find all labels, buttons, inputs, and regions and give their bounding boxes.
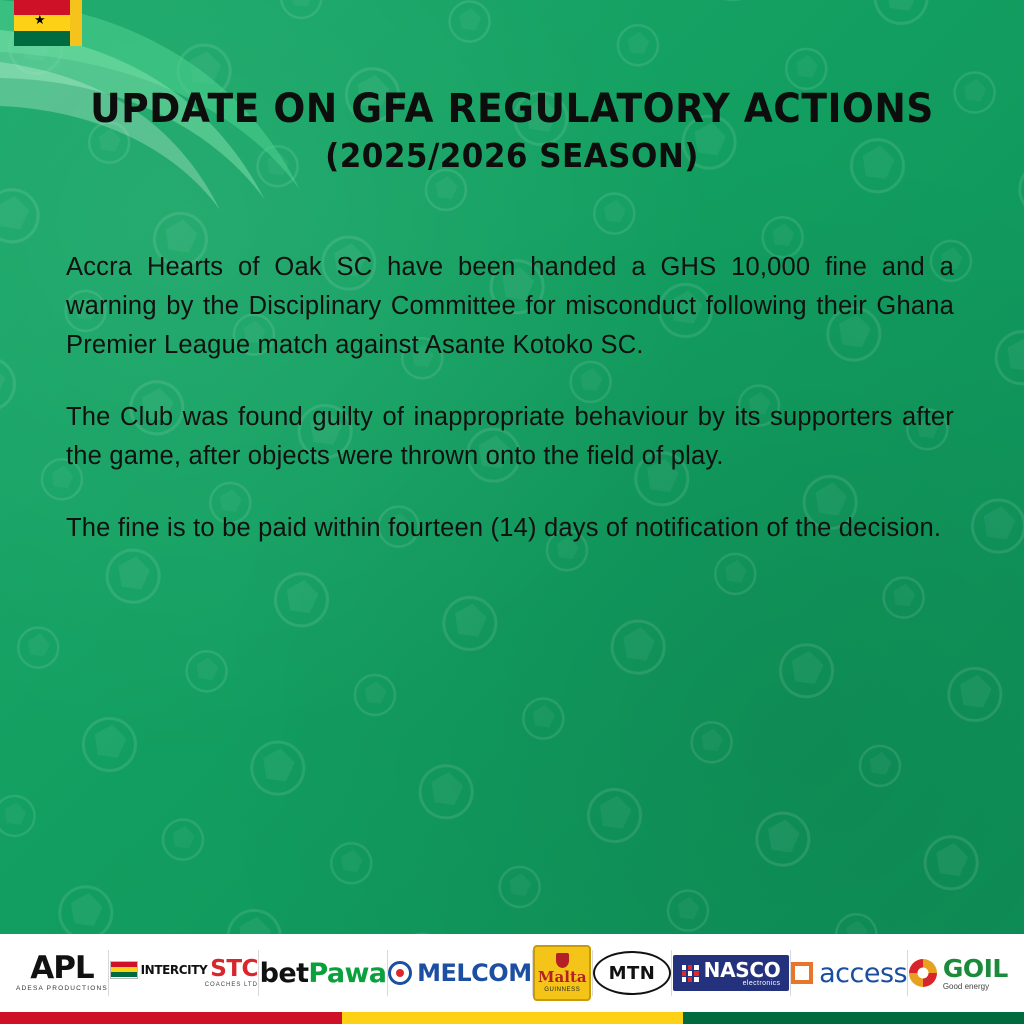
sponsor-footer: APL ADESA PRODUCTIONS INTERCITY STC [0, 934, 1024, 1024]
sponsor-logo-row: APL ADESA PRODUCTIONS INTERCITY STC [0, 934, 1024, 1012]
poster-canvas: ★ UPDATE ON GFA REGULATORY ACTIONS (2025… [0, 0, 1024, 1024]
mtn-wordmark: MTN [593, 951, 671, 995]
apl-wordmark: APL [30, 953, 93, 984]
betpawa-bet-text: bet [260, 958, 309, 989]
page-title: UPDATE ON GFA REGULATORY ACTIONS (2025/2… [0, 88, 1024, 176]
nasco-grid-icon [682, 965, 699, 982]
statement-body: Accra Hearts of Oak SC have been handed … [66, 248, 954, 548]
sponsor-apl-logo: APL ADESA PRODUCTIONS [16, 945, 108, 1001]
sponsor-melcom-logo: MELCOM [388, 945, 531, 1001]
malta-wordmark: Malta [538, 970, 587, 985]
nasco-wordmark: NASCO [704, 960, 781, 980]
sponsor-access-bank-logo: access [791, 945, 907, 1001]
sponsor-betpawa-logo: betPawa [260, 945, 387, 1001]
ghana-flag-bottom-bar [0, 1012, 1024, 1024]
nasco-tagline: electronics [743, 980, 781, 987]
flag-star-icon: ★ [34, 13, 46, 26]
goil-wordmark: GOIL [943, 956, 1008, 981]
sponsor-malta-guinness-logo: Malta GUINNESS [533, 945, 591, 1001]
title-line-1: UPDATE ON GFA REGULATORY ACTIONS [31, 88, 994, 131]
yellow-accent-stripe [70, 0, 82, 46]
paragraph-1: Accra Hearts of Oak SC have been handed … [66, 248, 954, 365]
sponsor-intercity-stc-logo: INTERCITY STC COACHES LTD [110, 945, 258, 1001]
sponsor-goil-logo: GOIL Good energy [909, 945, 1008, 1001]
stc-flag-icon [110, 961, 138, 979]
stc-wordmark: STC [210, 958, 258, 981]
melcom-wordmark: MELCOM [417, 959, 531, 987]
stc-tagline: COACHES LTD [205, 982, 258, 988]
melcom-target-icon [388, 961, 412, 985]
title-line-2: (2025/2026 SEASON) [31, 135, 994, 176]
paragraph-3: The fine is to be paid within fourteen (… [66, 509, 954, 548]
sponsor-mtn-logo: MTN [593, 945, 671, 1001]
guinness-wordmark: GUINNESS [544, 987, 580, 993]
betpawa-pawa-text: Pawa [308, 958, 386, 989]
goil-swirl-icon [909, 959, 937, 987]
access-square-icon [791, 962, 813, 984]
access-wordmark: access [819, 958, 907, 989]
apl-tagline: ADESA PRODUCTIONS [16, 986, 108, 993]
sponsor-nasco-logo: NASCO electronics [673, 945, 790, 1001]
goil-tagline: Good energy [943, 983, 1008, 991]
ghana-flag-icon: ★ [14, 0, 70, 46]
malta-crest-icon [556, 953, 569, 968]
paragraph-2: The Club was found guilty of inappropria… [66, 398, 954, 476]
stc-intercity-text: INTERCITY [141, 964, 208, 976]
